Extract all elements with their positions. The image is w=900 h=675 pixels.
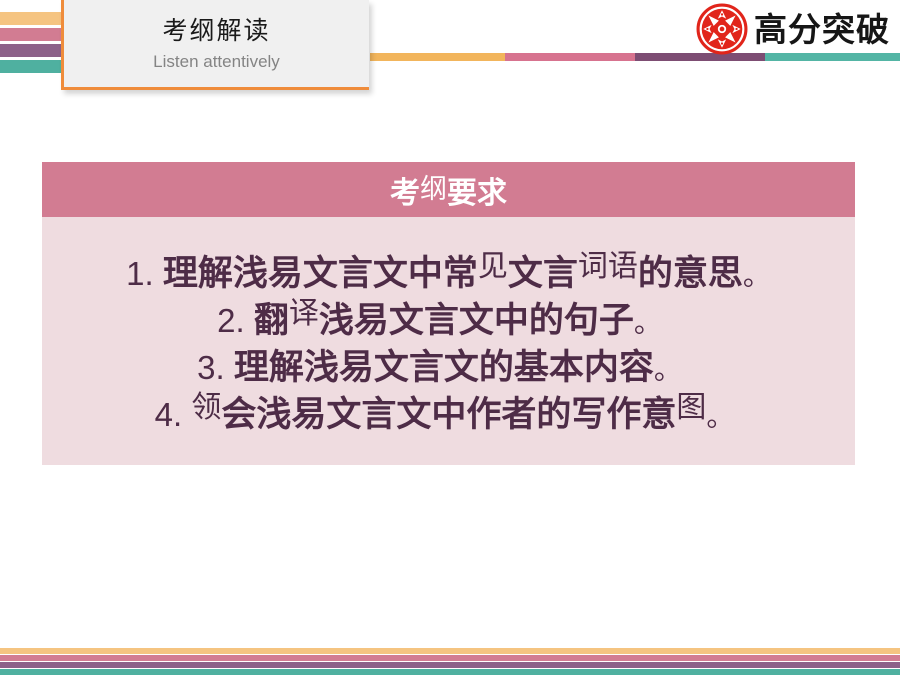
red-circular-emblem-icon — [696, 3, 748, 55]
exam-outline-card-body: 1. 理解浅易文言文中常见文言词语的意思。 2. 翻译浅易文言文中的句子。 3.… — [42, 217, 855, 465]
text-run: 纲 — [420, 174, 447, 205]
section-tab-title: 考纲解读 — [162, 15, 270, 46]
exam-outline-card: 考纲要求 1. 理解浅易文言文中常见文言词语的意思。 2. 翻译浅易文言文中的句… — [42, 162, 855, 465]
text-run: 的意思 — [638, 254, 743, 294]
text-run: 。 — [743, 259, 771, 292]
text-run: 。 — [634, 306, 662, 339]
brand-logo-text: 高分突破 — [754, 13, 890, 46]
requirement-item-2: 2. 翻译浅易文言文中的句子。 — [42, 298, 855, 345]
text-run: 译 — [289, 296, 319, 331]
text-run: 浅易文言文中的句子 — [319, 301, 634, 341]
brand-logo: 高分突破 — [696, 3, 890, 55]
header-rule-segment-orange — [370, 53, 505, 61]
requirement-number: 4. — [155, 396, 192, 433]
requirement-number: 1. — [126, 255, 163, 292]
text-run: 翻 — [254, 301, 289, 341]
section-tab-subtitle: Listen attentively — [153, 52, 280, 72]
text-run: 考 — [390, 176, 420, 211]
text-run: 领 — [191, 390, 221, 425]
text-run: 词语 — [578, 249, 638, 284]
requirement-item-1: 1. 理解浅易文言文中常见文言词语的意思。 — [42, 251, 855, 298]
text-run: 图 — [676, 390, 706, 425]
text-run: 。 — [654, 353, 682, 386]
text-run: 见 — [478, 249, 508, 284]
requirement-item-4: 4. 领会浅易文言文中作者的写作意图。 — [42, 392, 855, 439]
requirement-item-3: 3. 理解浅易文言文的基本内容。 — [42, 345, 855, 392]
exam-outline-card-title: 考纲要求 — [390, 168, 507, 212]
section-tab-box: 考纲解读 Listen attentively — [61, 0, 369, 90]
footer-stripe-pink — [0, 655, 900, 661]
footer-stripe-purple — [0, 662, 900, 668]
text-run: 。 — [706, 400, 734, 433]
exam-outline-card-header: 考纲要求 — [42, 162, 855, 217]
footer-stripe-orange — [0, 648, 900, 654]
text-run: 理解浅易文言文的基本内容 — [234, 348, 654, 388]
requirement-number: 3. — [197, 349, 234, 386]
text-run: 理解浅易文言文中常 — [163, 254, 478, 294]
requirement-number: 2. — [217, 302, 254, 339]
text-run: 会浅易文言文中作者的写作意 — [221, 395, 676, 435]
footer-stripe-teal — [0, 669, 900, 675]
header-rule-segment-pink — [505, 53, 635, 61]
text-run: 要求 — [447, 176, 507, 211]
footer-stripes — [0, 648, 900, 675]
text-run: 文言 — [508, 254, 578, 294]
